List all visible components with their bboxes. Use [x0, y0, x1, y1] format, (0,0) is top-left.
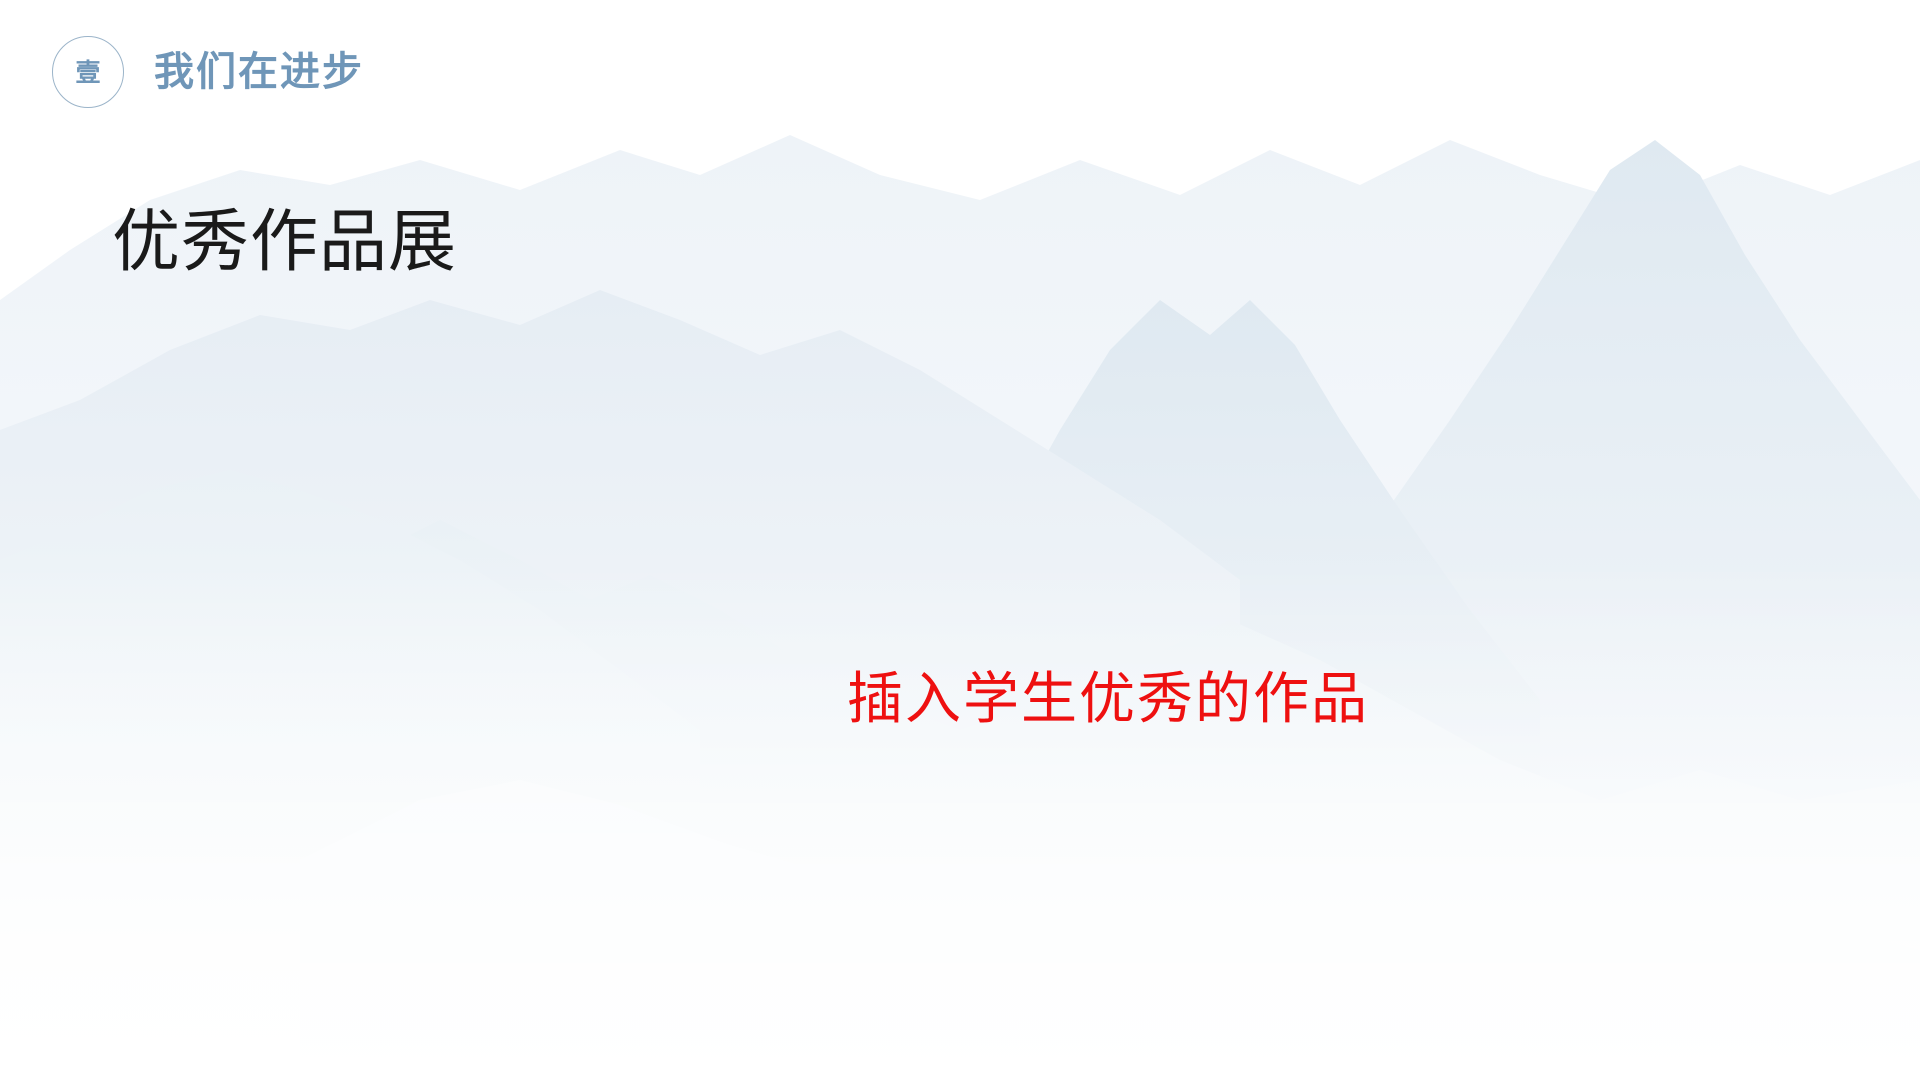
mountain-hills-lower-centre [0, 520, 1920, 1080]
placeholder-note-text: 插入学生优秀的作品 [847, 668, 1369, 732]
placeholder-note: 插入学生优秀的作品 [0, 668, 1920, 732]
mountain-hill-left-foreground [0, 470, 700, 1080]
page-title: 优秀作品展 [112, 206, 457, 281]
section-header-title: 我们在进步 [154, 52, 364, 92]
section-number-badge: 壹 [52, 36, 124, 108]
section-number-label: 壹 [75, 60, 100, 85]
slide-canvas: 壹 我们在进步 优秀作品展 插入学生优秀的作品 [0, 0, 1920, 1080]
section-header: 壹 我们在进步 [52, 36, 364, 108]
mountain-haze-overlay [0, 560, 1920, 1080]
mountain-peak-right [1380, 140, 1920, 1080]
mountain-mound-foreground [300, 780, 1920, 1080]
mountain-background-artwork [0, 0, 1920, 1080]
